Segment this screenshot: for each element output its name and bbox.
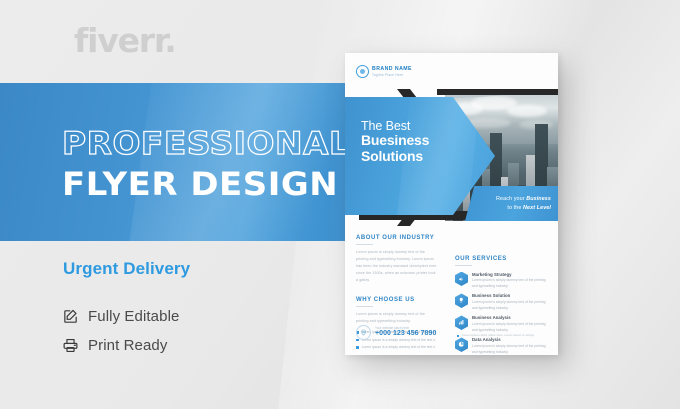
feature-label: Fully Editable [88,308,179,325]
service-text: Marketing Strategy Lorem ipsum is simply… [472,272,549,290]
hero-line-1: The Best [361,119,429,133]
reach-banner: Reach your Business to the Next Level [465,186,558,221]
pie-chart-icon [455,337,468,352]
section-rule [356,306,373,307]
flyer-brand-block: BRAND NAME Tagline Place Here [372,66,412,77]
service-desc: Lorem ipsum is simply dummy text of the … [472,300,549,311]
service-desc: Lorem ipsum is simply dummy text of the … [472,322,549,333]
reach-line-1: Reach your Business [496,195,551,203]
bullet-item: Lorem ipsum is a simply dummy text of th… [356,345,438,349]
service-text: Business Analysis Lorem ipsum is simply … [472,315,549,333]
screenshot-canvas: fiverr. PROFESSIONAL FLYER DESIGN Urgent… [0,0,680,409]
promo-subtitle: Urgent Delivery [63,259,190,279]
section-rule [356,244,373,245]
location-pin-icon [356,325,371,340]
feature-item-print-ready: Print Ready [62,331,179,360]
edit-square-icon [62,306,88,328]
bullet-square-icon [356,346,359,349]
service-desc: Lorem ipsum is simply dummy text of the … [472,278,549,289]
fiverr-logo: fiverr. [74,24,176,57]
why-choose-title: WHY CHOOSE US [356,297,438,303]
about-body: Lorem ipsum is simply dummy text of the … [356,249,438,285]
promo-feature-list: Fully Editable Print Ready [62,302,179,360]
footer-note-label: Lorem ipsum dolor place here, lorem ipsu… [462,334,535,338]
bar-chart-icon [455,315,468,330]
promo-headline-line1: PROFESSIONAL [62,129,350,160]
flyer-contact: Your website place here +000 123 456 789… [356,325,436,340]
service-title: Business Solution [472,293,549,299]
service-text: Data Analysis Lorem ipsum is simply dumm… [472,337,549,355]
phone-number: +000 123 456 7890 [375,330,436,338]
promo-blue-band [0,83,404,241]
services-title: OUR SERVICES [455,256,549,262]
megaphone-icon [455,272,468,287]
service-item: Data Analysis Lorem ipsum is simply dumm… [455,337,549,355]
service-title: Marketing Strategy [472,272,549,278]
contact-text: Your website place here +000 123 456 789… [375,326,436,339]
bulb-gear-icon [455,293,468,308]
section-rule [455,265,472,266]
feature-item-fully-editable: Fully Editable [62,302,179,331]
promo-headline-line2: FLYER DESIGN [62,168,338,200]
bullet-square-icon [457,335,459,337]
service-desc: Lorem ipsum is simply dummy text of the … [472,344,549,355]
flyer-page: BRAND NAME Tagline Place Here [345,53,558,355]
service-title: Business Analysis [472,315,549,321]
flyer-tagline: Tagline Place Here [372,73,412,77]
hero-text-block: The Best Buesiness Solutions [361,119,429,164]
flyer-footer-note: Lorem ipsum dolor place here, lorem ipsu… [457,334,535,338]
service-text: Business Solution Lorem ipsum is simply … [472,293,549,311]
service-item: Business Solution Lorem ipsum is simply … [455,293,549,311]
printer-icon [62,335,88,357]
flyer-right-column: OUR SERVICES Marketing Strategy Lorem ip… [455,256,549,355]
circle-globe-icon [356,65,369,78]
service-item: Marketing Strategy Lorem ipsum is simply… [455,272,549,290]
hero-line-3: Solutions [361,149,429,165]
flyer-brand-header: BRAND NAME Tagline Place Here [356,65,412,78]
cloud-shape [507,105,547,117]
why-choose-body: Lorem ipsum is simply dummy text of the … [356,311,438,325]
about-title: ABOUT OUR INDUSTRY [356,235,438,241]
service-title: Data Analysis [472,337,549,343]
hero-line-2: Buesiness [361,133,429,149]
flyer-brand-name: BRAND NAME [372,66,412,73]
service-item: Business Analysis Lorem ipsum is simply … [455,315,549,333]
feature-label: Print Ready [88,337,167,354]
flyer-mockup: BRAND NAME Tagline Place Here [345,53,558,355]
chevron-top-bar [437,89,558,95]
bullet-label: Lorem ipsum is a simply dummy text of th… [362,345,436,349]
reach-line-2: to the Next Level [507,204,551,212]
